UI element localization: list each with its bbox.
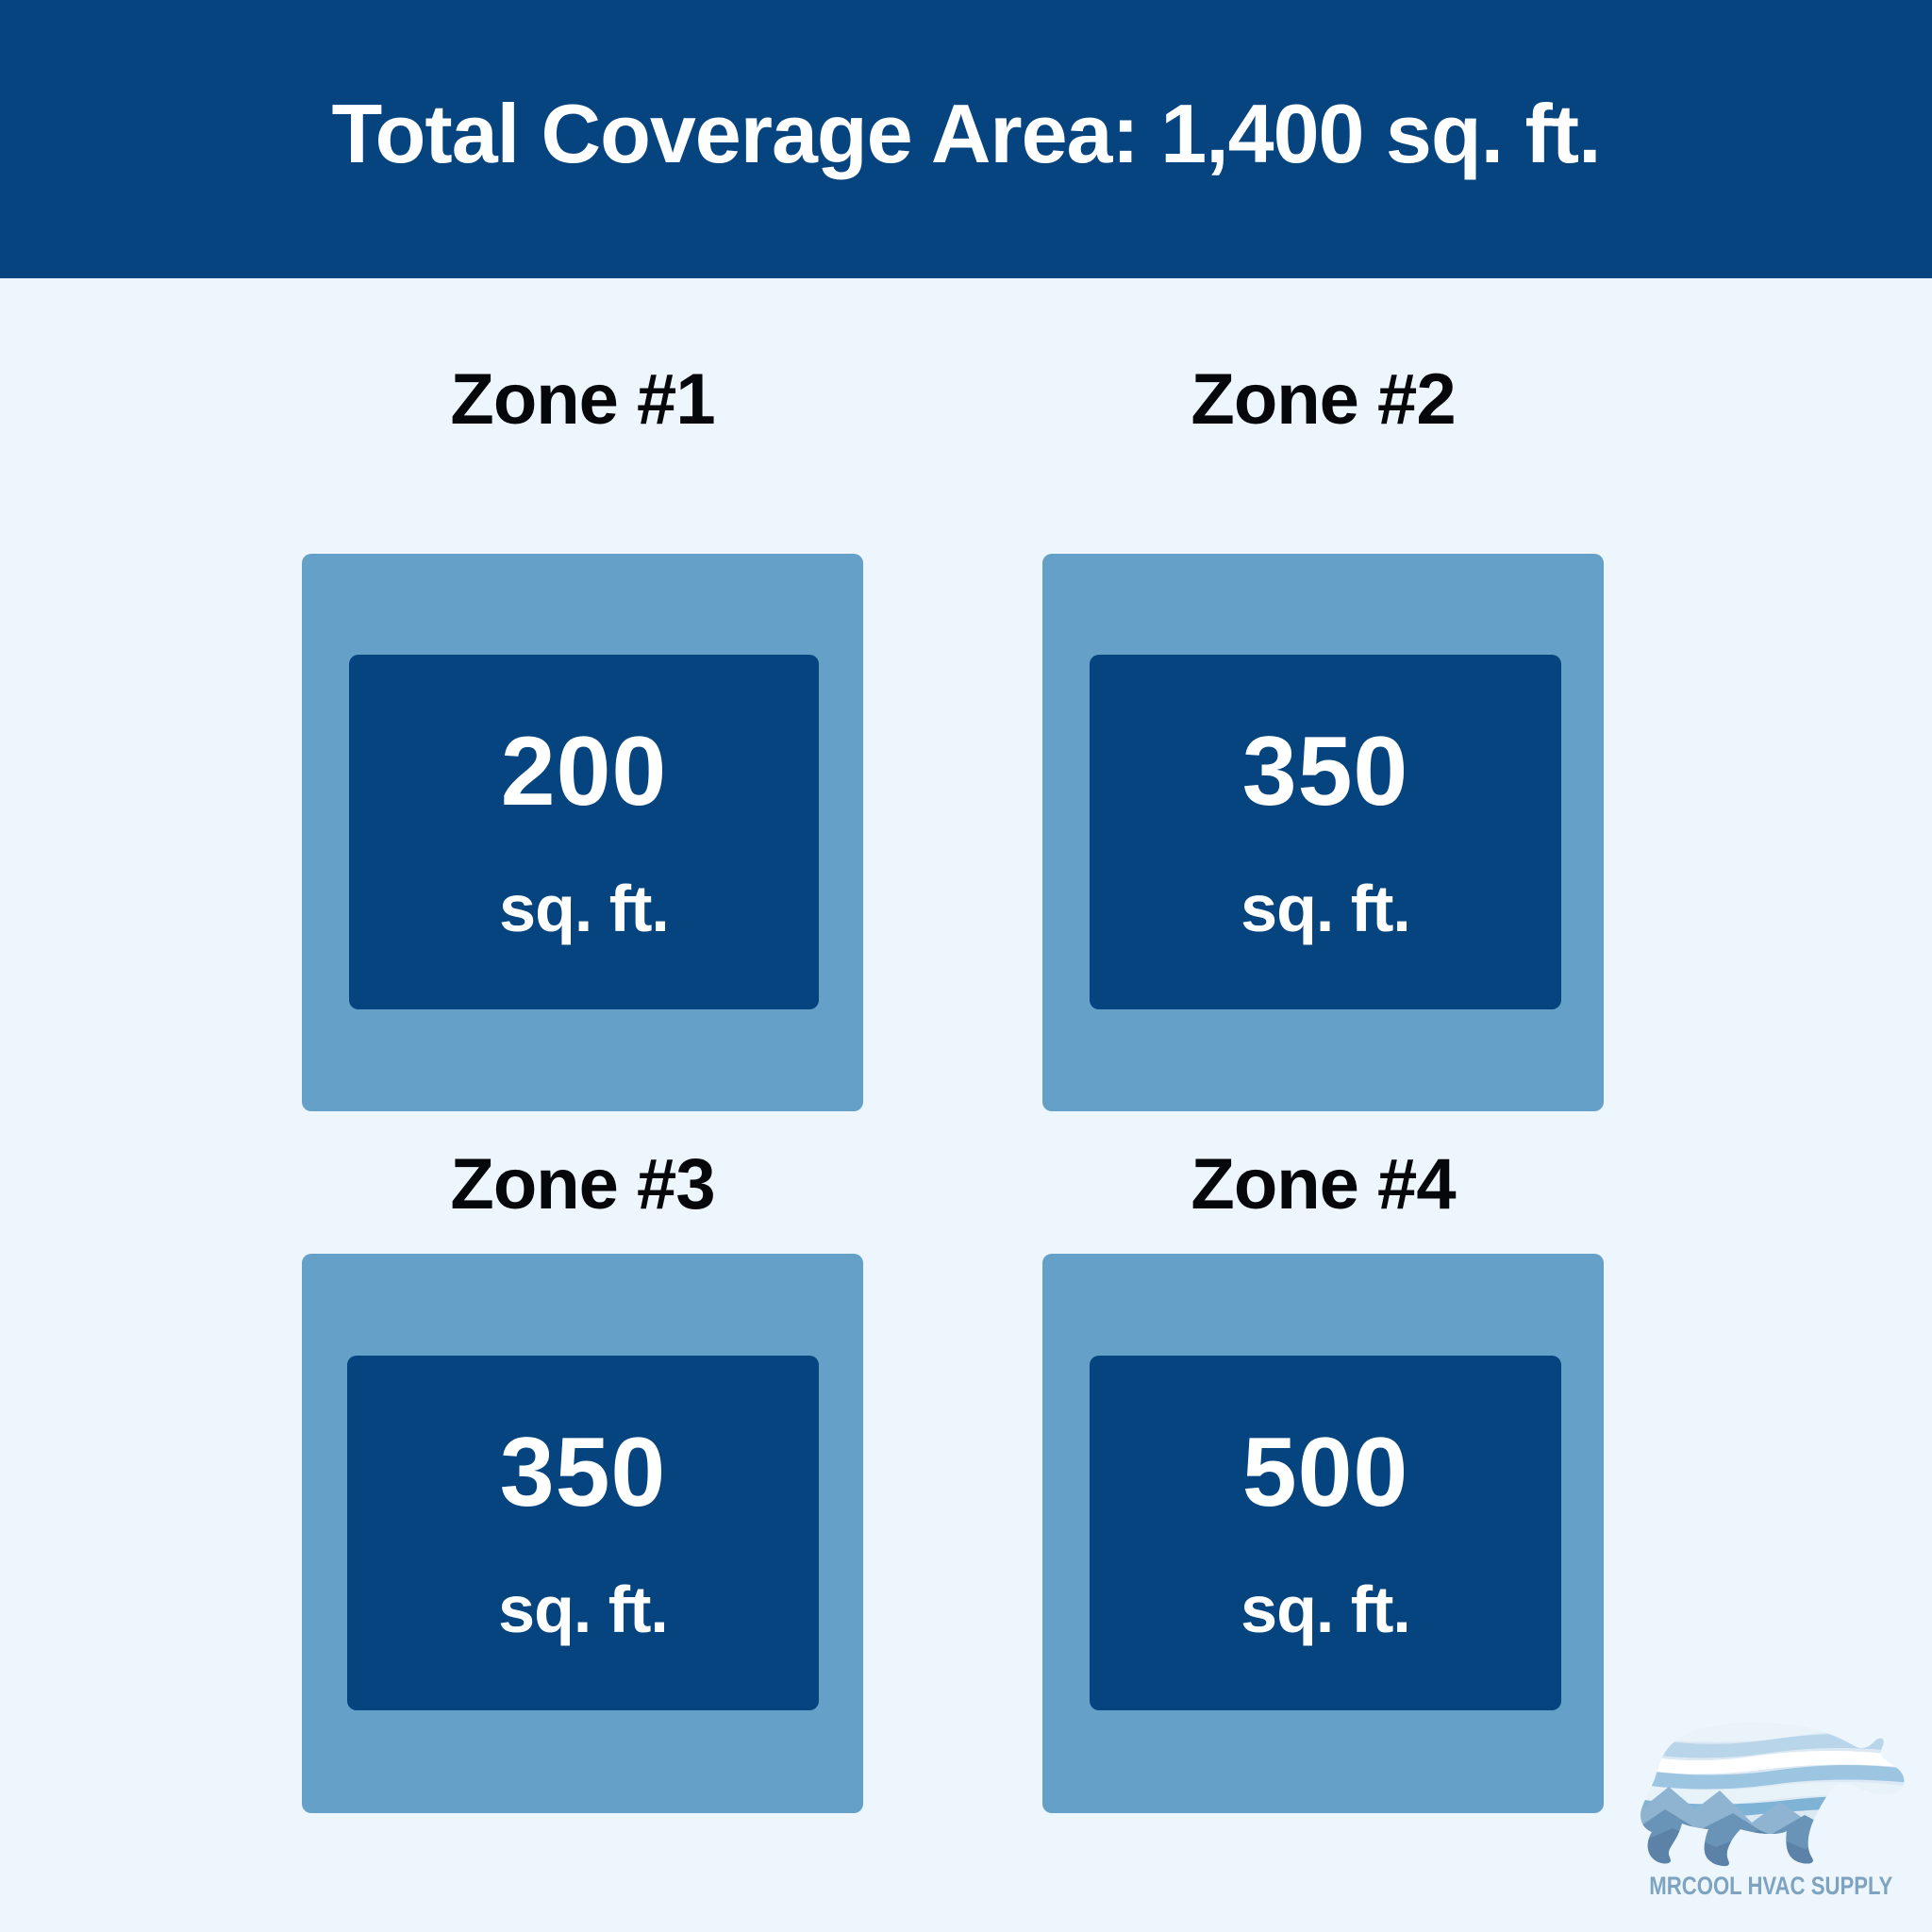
zone-label-4: Zone #4 — [1042, 1149, 1604, 1221]
zone-label-3: Zone #3 — [302, 1149, 863, 1221]
zone-label-2: Zone #2 — [1042, 364, 1604, 436]
zone-value-3: 350 — [500, 1424, 667, 1522]
zone-inner-tile-2: 350 sq. ft. — [1090, 655, 1561, 1009]
zone-value-2: 350 — [1242, 723, 1409, 821]
bear-landscape-fill — [1629, 1709, 1912, 1872]
zone-value-4: 500 — [1242, 1424, 1409, 1522]
zone-unit-2: sq. ft. — [1241, 875, 1410, 941]
header-banner: Total Coverage Area: 1,400 sq. ft. — [0, 0, 1932, 278]
zone-unit-1: sq. ft. — [499, 875, 669, 941]
zone-inner-tile-3: 350 sq. ft. — [347, 1356, 819, 1710]
infographic-canvas: Total Coverage Area: 1,400 sq. ft. Zone … — [0, 0, 1932, 1932]
zone-unit-3: sq. ft. — [498, 1576, 668, 1642]
brand-logo: bear MRCOOL HVAC SUPPLY — [1621, 1709, 1921, 1923]
brand-name: MRCOOL HVAC SUPPLY — [1649, 1874, 1892, 1899]
zone-inner-tile-4: 500 sq. ft. — [1090, 1356, 1561, 1710]
page-title: Total Coverage Area: 1,400 sq. ft. — [331, 92, 1600, 175]
zone-inner-tile-1: 200 sq. ft. — [349, 655, 819, 1009]
zone-value-1: 200 — [501, 723, 668, 821]
zone-unit-4: sq. ft. — [1241, 1576, 1410, 1642]
polar-bear-icon: bear — [1629, 1709, 1912, 1872]
zone-label-1: Zone #1 — [302, 364, 863, 436]
